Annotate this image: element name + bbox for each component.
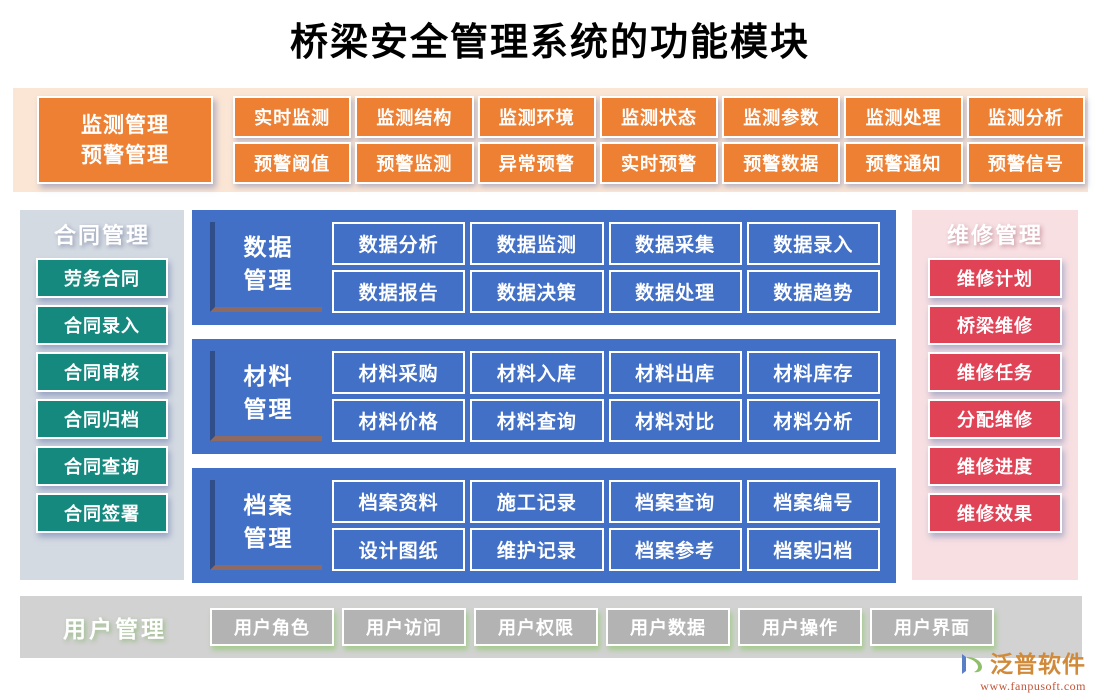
maintenance-item-effect[interactable]: 维修效果 [928,493,1062,533]
archive-management-group: 档案 管理 档案资料 施工记录 档案查询 档案编号 设计图纸 维护记录 档案参考… [192,468,896,583]
material-item-query[interactable]: 材料查询 [470,399,603,442]
warning-item-notification[interactable]: 预警通知 [844,142,962,184]
archive-item-construction-log[interactable]: 施工记录 [470,480,603,523]
monitor-warning-group-label: 监测管理 预警管理 [37,96,213,184]
archive-item-query[interactable]: 档案查询 [609,480,742,523]
data-management-group: 数据 管理 数据分析 数据监测 数据采集 数据录入 数据报告 数据决策 数据处理… [192,210,896,325]
material-item-inbound[interactable]: 材料入库 [470,351,603,394]
archive-management-label: 档案 管理 [210,480,322,570]
contract-item-labor[interactable]: 劳务合同 [36,258,168,298]
maintenance-management-list: 维修计划 桥梁维修 维修任务 分配维修 维修进度 维修效果 [912,258,1078,533]
fanpu-logo-icon [960,651,986,677]
material-management-label-line2: 管理 [244,394,294,426]
data-management-label: 数据 管理 [210,222,322,312]
monitor-item-structure[interactable]: 监测结构 [355,96,473,138]
data-management-grid: 数据分析 数据监测 数据采集 数据录入 数据报告 数据决策 数据处理 数据趋势 [332,222,880,313]
contract-management-title: 合同管理 [20,210,184,258]
data-item-decision[interactable]: 数据决策 [470,270,603,313]
contract-item-archive[interactable]: 合同归档 [36,399,168,439]
user-item-data[interactable]: 用户数据 [606,608,730,646]
warning-item-monitoring[interactable]: 预警监测 [355,142,473,184]
data-management-label-line2: 管理 [244,265,294,297]
data-item-report[interactable]: 数据报告 [332,270,465,313]
user-management-list: 用户角色 用户访问 用户权限 用户数据 用户操作 用户界面 [210,608,994,646]
user-item-operation[interactable]: 用户操作 [738,608,862,646]
data-item-trend[interactable]: 数据趋势 [747,270,880,313]
material-item-price[interactable]: 材料价格 [332,399,465,442]
material-item-inventory[interactable]: 材料库存 [747,351,880,394]
monitor-item-environment[interactable]: 监测环境 [478,96,596,138]
maintenance-item-progress[interactable]: 维修进度 [928,446,1062,486]
archive-item-filing[interactable]: 档案归档 [747,528,880,571]
company-logo-url: www.fanpusoft.com [980,679,1086,694]
archive-management-grid: 档案资料 施工记录 档案查询 档案编号 设计图纸 维护记录 档案参考 档案归档 [332,480,880,571]
maintenance-item-bridge[interactable]: 桥梁维修 [928,305,1062,345]
user-management-title: 用户管理 [20,610,210,644]
monitor-item-realtime[interactable]: 实时监测 [233,96,351,138]
warning-item-data[interactable]: 预警数据 [722,142,840,184]
material-management-label: 材料 管理 [210,351,322,441]
contract-management-panel: 合同管理 劳务合同 合同录入 合同审核 合同归档 合同查询 合同签署 [20,210,184,580]
archive-item-number[interactable]: 档案编号 [747,480,880,523]
maintenance-item-task[interactable]: 维修任务 [928,352,1062,392]
company-logo-name: 泛普软件 [990,653,1086,676]
data-item-analysis[interactable]: 数据分析 [332,222,465,265]
user-item-permission[interactable]: 用户权限 [474,608,598,646]
user-item-access[interactable]: 用户访问 [342,608,466,646]
archive-item-materials[interactable]: 档案资料 [332,480,465,523]
maintenance-item-assign[interactable]: 分配维修 [928,399,1062,439]
monitor-item-analysis[interactable]: 监测分析 [967,96,1085,138]
archive-item-reference[interactable]: 档案参考 [609,528,742,571]
material-management-label-line1: 材料 [244,361,294,393]
user-item-interface[interactable]: 用户界面 [870,608,994,646]
data-item-collection[interactable]: 数据采集 [609,222,742,265]
material-management-group: 材料 管理 材料采购 材料入库 材料出库 材料库存 材料价格 材料查询 材料对比… [192,339,896,454]
data-item-processing[interactable]: 数据处理 [609,270,742,313]
maintenance-management-title: 维修管理 [912,210,1078,258]
data-management-label-line1: 数据 [244,232,294,264]
archive-management-label-line2: 管理 [244,523,294,555]
warning-item-realtime[interactable]: 实时预警 [600,142,718,184]
user-item-role[interactable]: 用户角色 [210,608,334,646]
contract-item-sign[interactable]: 合同签署 [36,493,168,533]
monitor-item-status[interactable]: 监测状态 [600,96,718,138]
monitor-item-processing[interactable]: 监测处理 [844,96,962,138]
archive-management-label-line1: 档案 [244,490,294,522]
monitor-management-label: 监测管理 [81,110,169,140]
contract-management-list: 劳务合同 合同录入 合同审核 合同归档 合同查询 合同签署 [20,258,184,533]
material-item-purchase[interactable]: 材料采购 [332,351,465,394]
page-title: 桥梁安全管理系统的功能模块 [0,0,1100,62]
monitor-warning-band: 监测管理 预警管理 实时监测 监测结构 监测环境 监测状态 监测参数 监测处理 … [13,88,1088,192]
maintenance-management-panel: 维修管理 维修计划 桥梁维修 维修任务 分配维修 维修进度 维修效果 [912,210,1078,580]
archive-item-design-drawing[interactable]: 设计图纸 [332,528,465,571]
data-item-entry[interactable]: 数据录入 [747,222,880,265]
contract-item-review[interactable]: 合同审核 [36,352,168,392]
contract-item-query[interactable]: 合同查询 [36,446,168,486]
warning-item-signal[interactable]: 预警信号 [967,142,1085,184]
monitor-warning-grid: 实时监测 监测结构 监测环境 监测状态 监测参数 监测处理 监测分析 预警阈值 … [233,96,1085,184]
contract-item-entry[interactable]: 合同录入 [36,305,168,345]
company-logo: 泛普软件 www.fanpusoft.com [926,650,1086,694]
material-management-grid: 材料采购 材料入库 材料出库 材料库存 材料价格 材料查询 材料对比 材料分析 [332,351,880,442]
warning-item-threshold[interactable]: 预警阈值 [233,142,351,184]
material-item-analysis[interactable]: 材料分析 [747,399,880,442]
monitor-item-parameters[interactable]: 监测参数 [722,96,840,138]
material-item-outbound[interactable]: 材料出库 [609,351,742,394]
data-item-monitoring[interactable]: 数据监测 [470,222,603,265]
user-management-panel: 用户管理 用户角色 用户访问 用户权限 用户数据 用户操作 用户界面 [20,596,1082,658]
company-logo-row: 泛普软件 [960,651,1086,677]
warning-management-label: 预警管理 [81,140,169,170]
material-item-compare[interactable]: 材料对比 [609,399,742,442]
warning-item-abnormal[interactable]: 异常预警 [478,142,596,184]
archive-item-maintenance-log[interactable]: 维护记录 [470,528,603,571]
maintenance-item-plan[interactable]: 维修计划 [928,258,1062,298]
